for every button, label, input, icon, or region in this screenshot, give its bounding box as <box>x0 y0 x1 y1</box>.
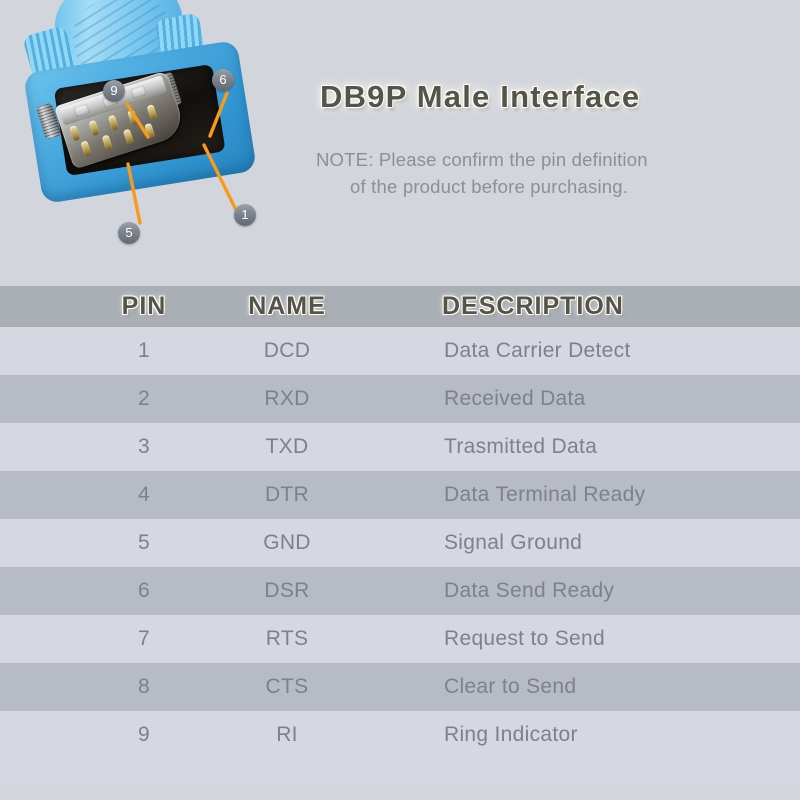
cell-description: Signal Ground <box>444 519 784 567</box>
callout-leader-lines <box>24 0 300 244</box>
leader-line-1 <box>204 145 236 210</box>
db9-connector-image: 9 6 5 1 <box>24 0 300 244</box>
cell-description: Trasmitted Data <box>444 423 784 471</box>
cell-description: Data Terminal Ready <box>444 471 784 519</box>
table-row: 5 GND Signal Ground <box>0 519 800 567</box>
pin-callout-badge-1: 1 <box>234 204 256 226</box>
table-row: 2 RXD Received Data <box>0 375 800 423</box>
note-line-2: of the product before purchasing. <box>316 173 746 200</box>
cell-name: CTS <box>228 663 346 711</box>
cell-name: DTR <box>228 471 346 519</box>
cell-description: Data Send Ready <box>444 567 784 615</box>
table-header-row: PIN NAME DESCRIPTION <box>0 286 800 327</box>
cell-description: Ring Indicator <box>444 711 784 759</box>
cell-name: RXD <box>228 375 346 423</box>
cell-pin: 3 <box>108 423 180 471</box>
table-row: 7 RTS Request to Send <box>0 615 800 663</box>
product-spec-page: 9 6 5 1 DB9P Male Interface NOTE: Please… <box>0 0 800 800</box>
cell-name: GND <box>228 519 346 567</box>
cell-description: Request to Send <box>444 615 784 663</box>
cell-name: RTS <box>228 615 346 663</box>
leader-line-9 <box>127 104 148 137</box>
table-row: 9 RI Ring Indicator <box>0 711 800 783</box>
table-row: 8 CTS Clear to Send <box>0 663 800 711</box>
column-header-pin: PIN <box>108 286 180 327</box>
column-header-description: DESCRIPTION <box>442 286 782 327</box>
cell-pin: 4 <box>108 471 180 519</box>
leader-line-6 <box>210 93 227 136</box>
cell-pin: 7 <box>108 615 180 663</box>
column-header-name: NAME <box>222 286 352 327</box>
pin-callout-badge-6: 6 <box>212 69 234 91</box>
cell-description: Received Data <box>444 375 784 423</box>
table-row: 6 DSR Data Send Ready <box>0 567 800 615</box>
purchase-note: NOTE: Please confirm the pin definition … <box>316 146 746 200</box>
cell-pin: 1 <box>108 327 180 375</box>
pin-callout-badge-9: 9 <box>103 80 125 102</box>
cell-description: Clear to Send <box>444 663 784 711</box>
table-row: 3 TXD Trasmitted Data <box>0 423 800 471</box>
table-row: 1 DCD Data Carrier Detect <box>0 327 800 375</box>
note-line-1: NOTE: Please confirm the pin definition <box>316 149 648 170</box>
cell-name: TXD <box>228 423 346 471</box>
cell-name: RI <box>228 711 346 759</box>
cell-pin: 9 <box>108 711 180 759</box>
cell-pin: 6 <box>108 567 180 615</box>
pinout-table: PIN NAME DESCRIPTION 1 DCD Data Carrier … <box>0 286 800 783</box>
cell-name: DSR <box>228 567 346 615</box>
cell-pin: 2 <box>108 375 180 423</box>
leader-line-5 <box>128 164 140 223</box>
cell-pin: 5 <box>108 519 180 567</box>
cell-pin: 8 <box>108 663 180 711</box>
pin-callout-badge-5: 5 <box>118 222 140 244</box>
hero-section: 9 6 5 1 DB9P Male Interface NOTE: Please… <box>0 0 800 286</box>
cell-name: DCD <box>228 327 346 375</box>
page-title: DB9P Male Interface <box>320 79 720 115</box>
cell-description: Data Carrier Detect <box>444 327 784 375</box>
table-row: 4 DTR Data Terminal Ready <box>0 471 800 519</box>
